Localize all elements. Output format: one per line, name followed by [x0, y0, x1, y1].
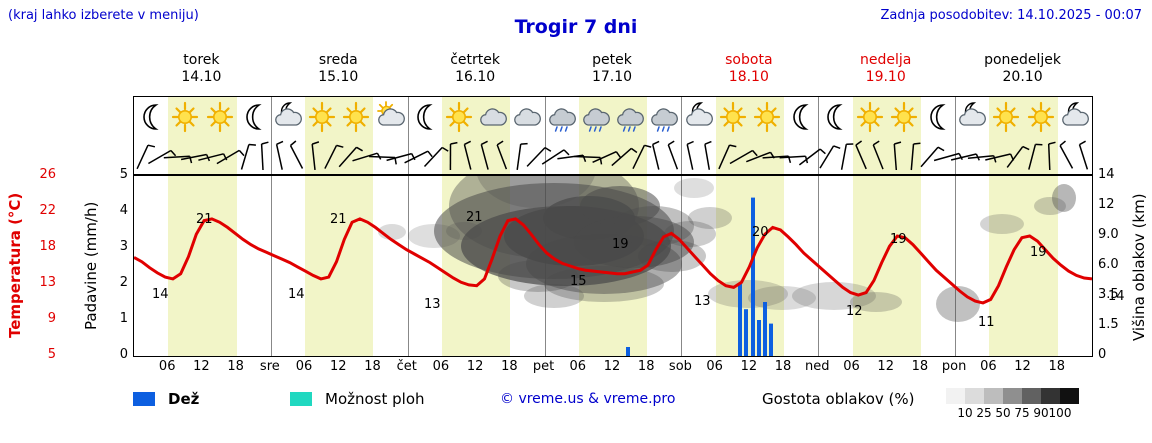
- x-tick-pon: pon: [942, 359, 966, 374]
- precticks-5: 5: [102, 167, 128, 182]
- weather-icon-moon: [923, 100, 953, 134]
- weather-icon-cloud-rain: [581, 100, 611, 134]
- day-name: sobota: [680, 52, 817, 69]
- temperature-annotation: 19: [612, 237, 629, 252]
- x-tick-12: 12: [467, 359, 484, 374]
- x-tick-12: 12: [604, 359, 621, 374]
- temperature-annotation: 20: [752, 225, 769, 240]
- forecast-plot: [133, 175, 1093, 357]
- x-tick-18: 18: [1049, 359, 1066, 374]
- x-tick-12: 12: [877, 359, 894, 374]
- x-tick-18: 18: [364, 359, 381, 374]
- precticks-3: 3: [102, 239, 128, 254]
- weather-icon-sun: [752, 100, 782, 134]
- cloud-density-tick-labels: 1025507590100: [946, 406, 1086, 422]
- weather-icon-moon-cloud: [273, 100, 303, 134]
- temperature-annotation: 11: [978, 315, 995, 330]
- temperature-annotation: 14: [152, 287, 169, 302]
- x-tick-06: 06: [570, 359, 587, 374]
- x-tick-18: 18: [912, 359, 929, 374]
- weather-icon-sun: [205, 100, 235, 134]
- weather-icon-moon: [786, 100, 816, 134]
- precipitation-axis-title: Padavine (mm/h): [82, 178, 100, 353]
- x-tick-18: 18: [501, 359, 518, 374]
- x-tick-12: 12: [741, 359, 758, 374]
- cloudticks-12: 12: [1098, 197, 1132, 212]
- cloud-density-scale: [946, 388, 1079, 404]
- x-axis-ticks: 061218sre061218čet061218pet061218sob0612…: [133, 357, 1093, 377]
- precipitation-tick-labels: 543210: [100, 175, 128, 357]
- precticks-1: 1: [102, 311, 128, 326]
- day-date: 15.10: [270, 69, 407, 86]
- rain-legend-label: Dež: [168, 390, 199, 408]
- weather-symbol-band: [133, 96, 1093, 175]
- weather-icon-cloud: [512, 100, 542, 134]
- temperature-annotation: 14: [1108, 289, 1125, 304]
- day-name: sreda: [270, 52, 407, 69]
- x-tick-06: 06: [843, 359, 860, 374]
- cloud-tick-labels: 14129.06.03.51.50: [1098, 175, 1136, 357]
- tempticks-18: 18: [26, 239, 56, 254]
- weather-icon-cloud-rain: [615, 100, 645, 134]
- last-updated: Zadnja posodobitev: 14.10.2025 - 00:07: [880, 8, 1142, 23]
- weather-icon-sun-cloud: [376, 100, 406, 134]
- day-date: 17.10: [544, 69, 681, 86]
- day-date: 14.10: [133, 69, 270, 86]
- weather-icon-cloud-rain: [547, 100, 577, 134]
- day-name: četrtek: [407, 52, 544, 69]
- cloudticks-1.5: 1.5: [1098, 317, 1132, 332]
- tempticks-22: 22: [26, 203, 56, 218]
- weather-icon-moon: [136, 100, 166, 134]
- precticks-0: 0: [102, 347, 128, 362]
- x-tick-06: 06: [159, 359, 176, 374]
- day-date: 19.10: [817, 69, 954, 86]
- day-header-15.10: sreda15.10: [270, 52, 407, 86]
- weather-icon-moon-cloud: [957, 100, 987, 134]
- weather-icon-cloud-rain: [649, 100, 679, 134]
- x-tick-06: 06: [706, 359, 723, 374]
- x-tick-06: 06: [296, 359, 313, 374]
- x-tick-18: 18: [638, 359, 655, 374]
- cloudticks-9.0: 9.0: [1098, 227, 1132, 242]
- legend: Dež Možnost ploh © vreme.us & vreme.pro …: [0, 382, 1152, 432]
- density-tick-100: 100: [1049, 406, 1072, 420]
- temperature-annotation: 21: [196, 212, 213, 227]
- temperature-annotation: 21: [330, 212, 347, 227]
- weather-icon-sun: [991, 100, 1021, 134]
- density-swatch: [946, 388, 965, 404]
- temperature-axis-title: Temperatura (°C): [6, 178, 24, 353]
- temperature-annotation: 15: [570, 274, 587, 289]
- cloud-density-title: Gostota oblakov (%): [762, 390, 915, 408]
- cloudticks-14: 14: [1098, 167, 1132, 182]
- temperature-annotation: 13: [694, 294, 711, 309]
- x-tick-18: 18: [227, 359, 244, 374]
- cloudticks-0: 0: [1098, 347, 1132, 362]
- day-header-14.10: torek14.10: [133, 52, 270, 86]
- tempticks-9: 9: [26, 311, 56, 326]
- weather-icon-sun: [889, 100, 919, 134]
- temperature-annotation: 13: [424, 297, 441, 312]
- day-header-18.10: sobota18.10: [680, 52, 817, 86]
- x-tick-sre: sre: [260, 359, 280, 374]
- day-date: 16.10: [407, 69, 544, 86]
- day-header-20.10: ponedeljek20.10: [954, 52, 1091, 86]
- weather-icon-sun: [170, 100, 200, 134]
- x-tick-čet: čet: [397, 359, 417, 374]
- density-swatch: [984, 388, 1003, 404]
- day-date: 18.10: [680, 69, 817, 86]
- temperature-annotation: 19: [890, 232, 907, 247]
- weather-icon-sun: [341, 100, 371, 134]
- day-header-row: torek14.10sreda15.10četrtek16.10petek17.…: [133, 52, 1093, 94]
- density-swatch: [1022, 388, 1041, 404]
- x-tick-06: 06: [980, 359, 997, 374]
- x-tick-12: 12: [330, 359, 347, 374]
- density-tick-90: 90: [1033, 406, 1048, 420]
- showers-legend-label: Možnost ploh: [325, 390, 425, 408]
- weather-icon-moon-cloud: [684, 100, 714, 134]
- density-swatch: [1003, 388, 1022, 404]
- tempticks-13: 13: [26, 275, 56, 290]
- weather-icon-sun: [307, 100, 337, 134]
- density-swatch: [965, 388, 984, 404]
- rain-legend-swatch: [133, 392, 155, 406]
- weather-icon-sun: [1026, 100, 1056, 134]
- day-header-16.10: četrtek16.10: [407, 52, 544, 86]
- weather-icon-cloud: [478, 100, 508, 134]
- credit-text[interactable]: © vreme.us & vreme.pro: [500, 391, 675, 407]
- temperature-tick-labels: 2622181395: [24, 175, 56, 357]
- x-tick-pet: pet: [533, 359, 554, 374]
- density-swatch: [1060, 388, 1079, 404]
- day-header-19.10: nedelja19.10: [817, 52, 954, 86]
- x-tick-06: 06: [433, 359, 450, 374]
- weather-icon-moon: [410, 100, 440, 134]
- x-tick-sob: sob: [669, 359, 692, 374]
- x-tick-ned: ned: [805, 359, 830, 374]
- temperature-annotation: 12: [846, 304, 863, 319]
- density-tick-25: 25: [976, 406, 991, 420]
- day-date: 20.10: [954, 69, 1091, 86]
- tempticks-26: 26: [26, 167, 56, 182]
- x-tick-12: 12: [193, 359, 210, 374]
- wind-barb-row: [134, 137, 1092, 176]
- precticks-2: 2: [102, 275, 128, 290]
- temperature-annotation: 14: [288, 287, 305, 302]
- x-tick-18: 18: [775, 359, 792, 374]
- day-name: nedelja: [817, 52, 954, 69]
- tempticks-5: 5: [26, 347, 56, 362]
- day-name: ponedeljek: [954, 52, 1091, 69]
- temperature-annotation: 21: [466, 210, 483, 225]
- weather-icon-sun: [855, 100, 885, 134]
- weather-icon-row: [134, 97, 1092, 137]
- weather-icon-sun: [718, 100, 748, 134]
- weather-icon-moon: [239, 100, 269, 134]
- density-tick-50: 50: [995, 406, 1010, 420]
- cloudticks-6.0: 6.0: [1098, 257, 1132, 272]
- day-name: torek: [133, 52, 270, 69]
- density-tick-10: 10: [957, 406, 972, 420]
- x-tick-12: 12: [1014, 359, 1031, 374]
- weather-icon-moon-cloud: [1060, 100, 1090, 134]
- temperature-annotation: 19: [1030, 245, 1047, 260]
- showers-legend-swatch: [290, 392, 312, 406]
- density-swatch: [1041, 388, 1060, 404]
- day-header-17.10: petek17.10: [544, 52, 681, 86]
- precticks-4: 4: [102, 203, 128, 218]
- weather-icon-sun: [444, 100, 474, 134]
- weather-icon-moon: [820, 100, 850, 134]
- day-name: petek: [544, 52, 681, 69]
- density-tick-75: 75: [1014, 406, 1029, 420]
